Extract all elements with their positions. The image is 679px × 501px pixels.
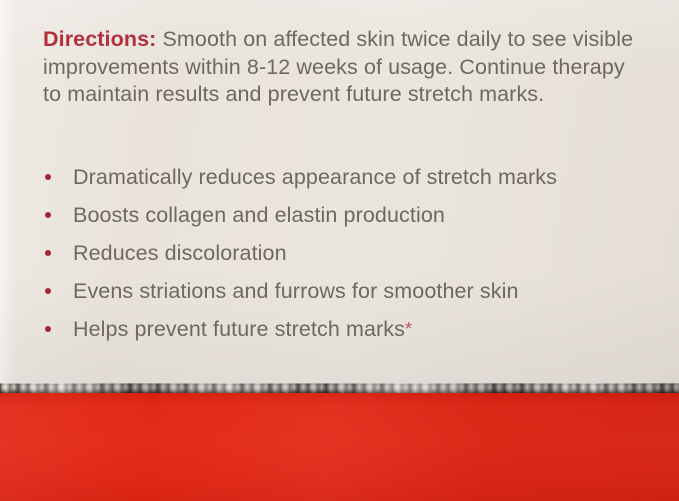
bullet-dot-icon — [45, 326, 51, 332]
list-item: Evens striations and furrows for smoothe… — [43, 272, 643, 310]
bullet-dot-icon — [45, 288, 51, 294]
bullet-dot-icon — [45, 250, 51, 256]
metallic-foil-edge-strip — [0, 383, 679, 393]
list-item-label: Evens striations and furrows for smoothe… — [73, 278, 519, 305]
list-item-label: Boosts collagen and elastin production — [73, 202, 445, 229]
product-package-back-panel: Directions: Smooth on affected skin twic… — [0, 0, 679, 501]
directions-label: Directions: — [43, 27, 156, 51]
benefit-bullet-list: Dramatically reduces appearance of stret… — [43, 158, 643, 348]
bullet-dot-icon — [45, 212, 51, 218]
list-item-label: Helps prevent future stretch marks — [73, 316, 405, 343]
list-item: Reduces discoloration — [43, 234, 643, 272]
list-item: Helps prevent future stretch marks * — [43, 310, 643, 348]
directions-text-block: Directions: Smooth on affected skin twic… — [43, 26, 643, 109]
bullet-dot-icon — [45, 174, 51, 180]
list-item: Boosts collagen and elastin production — [43, 196, 643, 234]
list-item-label: Reduces discoloration — [73, 240, 287, 267]
red-carton-band — [0, 393, 679, 501]
list-item-label: Dramatically reduces appearance of stret… — [73, 164, 557, 191]
directions-paragraph: Directions: Smooth on affected skin twic… — [43, 26, 643, 109]
list-item: Dramatically reduces appearance of stret… — [43, 158, 643, 196]
